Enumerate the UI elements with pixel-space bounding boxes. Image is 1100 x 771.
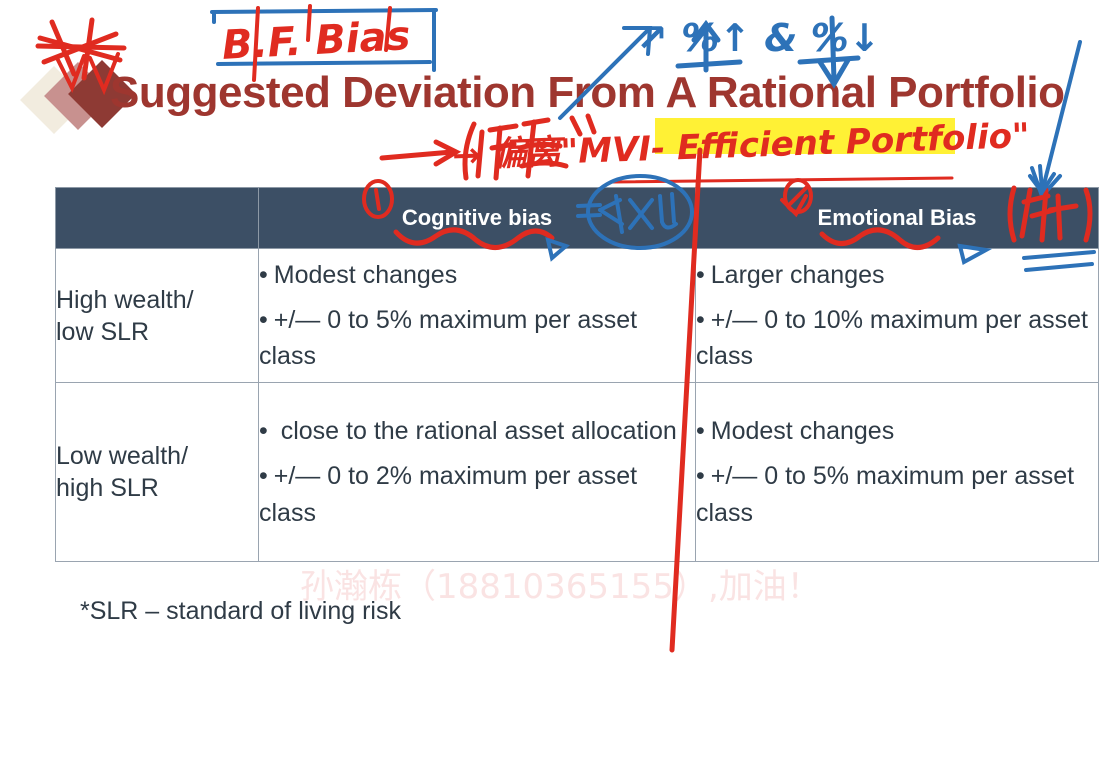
row-label-line1: Low wealth/ [56,440,258,472]
bullet-dot-icon: • [696,306,705,334]
ink-red-underline-mvi [612,178,952,182]
bullet-text: +/— 0 to 10% maximum per asset class [696,306,1088,370]
bullet-text: +/— 0 to 2% maximum per asset class [259,462,637,526]
bullet-dot-icon: • [696,417,705,445]
bullet-dot-icon: • [696,261,705,289]
table-header-row: Cognitive bias Emotional Bias [56,188,1099,249]
bullet-dot-icon: • [259,417,268,445]
ink-blue-bracket-bf [212,10,436,70]
ink-red-chinese-deviation [465,116,594,178]
bullet-item: •Modest changes [259,257,695,293]
slide-canvas: Suggested Deviation From A Rational Port… [0,0,1100,771]
table-header-cognitive-bias: Cognitive bias [259,188,696,249]
deviation-table: Cognitive bias Emotional Bias High wealt… [55,187,1099,562]
bullet-dot-icon: • [259,306,268,334]
bullet-item: •+/— 0 to 2% maximum per asset class [259,458,695,531]
bullet-item: •+/— 0 to 5% maximum per asset class [696,458,1098,531]
bullet-item: • close to the rational asset allocation [259,413,695,449]
bullet-item: •+/— 0 to 10% maximum per asset class [696,302,1098,375]
table-row: Low wealth/ high SLR • close to the rati… [56,383,1099,562]
highlighter-mark [655,118,955,154]
row-label-low-wealth: Low wealth/ high SLR [56,383,259,562]
cell-high-cognitive: •Modest changes •+/— 0 to 5% maximum per… [259,249,696,383]
cell-high-emotional: •Larger changes •+/— 0 to 10% maximum pe… [696,249,1099,383]
bullet-item: •+/— 0 to 5% maximum per asset class [259,302,695,375]
ink-blue-arrow-increase [678,24,740,70]
bullet-text: Modest changes [274,261,457,289]
table-header-blank [56,188,259,249]
bullet-dot-icon: • [696,462,705,490]
row-label-line2: high SLR [56,472,258,504]
table-row: High wealth/ low SLR •Modest changes •+/… [56,249,1099,383]
ink-label-bf-bias: B.F. Bias [221,13,411,69]
bullet-text: Modest changes [711,417,894,445]
cell-low-emotional: •Modest changes •+/— 0 to 5% maximum per… [696,383,1099,562]
bullet-item: •Modest changes [696,413,1098,449]
bullet-dot-icon: • [259,462,268,490]
cell-low-cognitive: • close to the rational asset allocation… [259,383,696,562]
row-label-line2: low SLR [56,316,258,348]
bullet-dot-icon: • [259,261,268,289]
page-title: Suggested Deviation From A Rational Port… [110,68,1065,118]
bullet-text: Larger changes [711,261,885,289]
bullet-text: +/— 0 to 5% maximum per asset class [696,462,1074,526]
ink-red-arrow-deviation [382,142,456,164]
ink-blue-long-vertical [1032,42,1080,196]
bullet-text: close to the rational asset allocation [274,417,677,445]
footnote-slr: *SLR – standard of living risk [80,597,401,626]
ink-label-deviation-note: → 偏离"MVI- Efficient Portfolio" [451,108,1030,177]
bullet-text: +/— 0 to 5% maximum per asset class [259,306,637,370]
row-label-line1: High wealth/ [56,284,258,316]
ink-label-percent-arrows: ↗ %↑ & %↓ [636,16,881,60]
row-label-high-wealth: High wealth/ low SLR [56,249,259,383]
table-header-emotional-bias: Emotional Bias [696,188,1099,249]
bullet-item: •Larger changes [696,257,1098,293]
